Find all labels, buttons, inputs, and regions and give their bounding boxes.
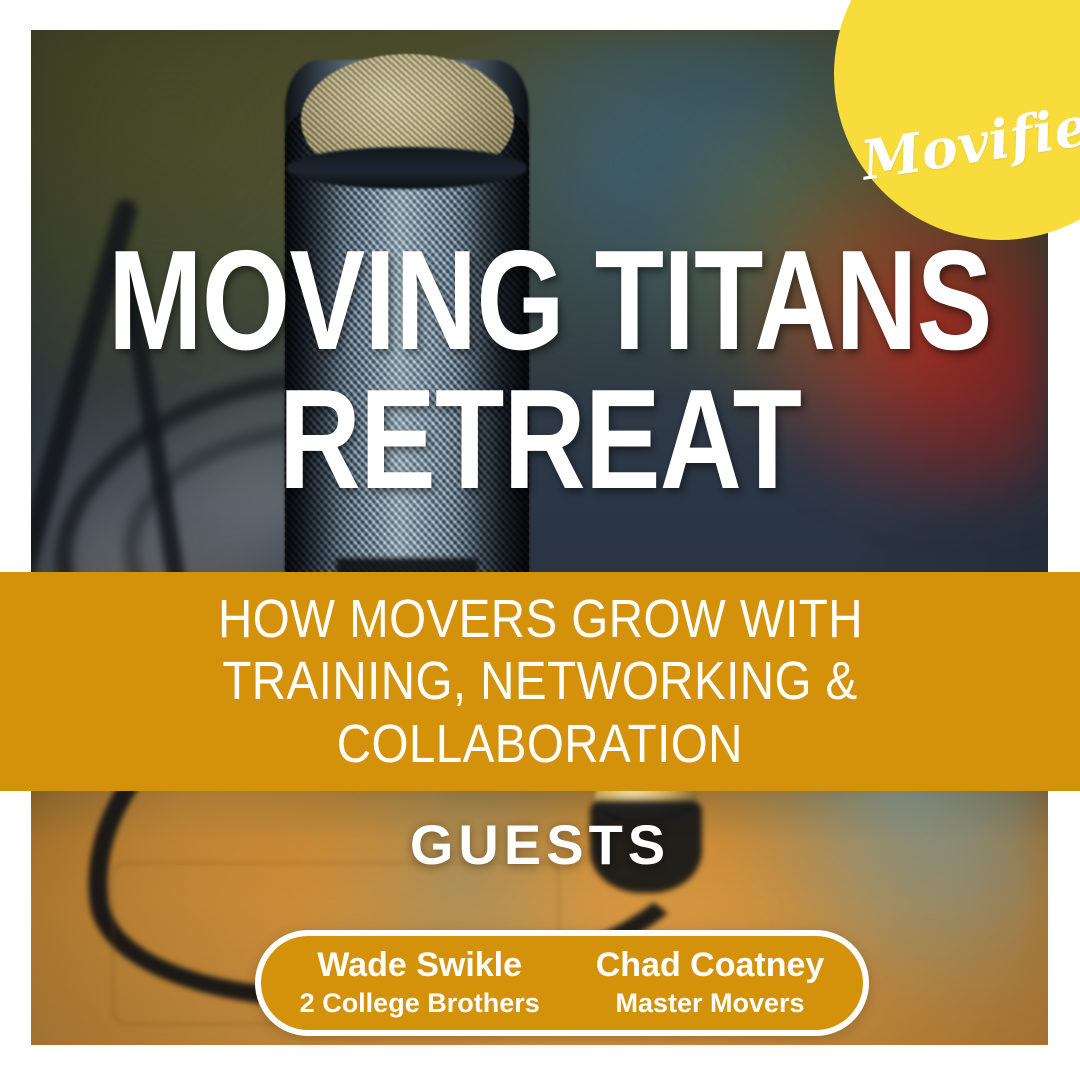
guest-name: Wade Swikle xyxy=(300,947,540,984)
subtitle-band: HOW MOVERS GROW WITH TRAINING, NETWORKIN… xyxy=(0,572,1080,791)
guests-heading: GUESTS xyxy=(0,812,1080,877)
brand-badge-circle: Movified xyxy=(834,0,1080,240)
subtitle-line-1: HOW MOVERS GROW WITH xyxy=(218,588,863,651)
podcast-promo-poster: Movified MOVING TITANS RETREAT HOW MOVER… xyxy=(0,0,1080,1080)
guest-organization: Master Movers xyxy=(596,987,825,1019)
subtitle-line-2: TRAINING, NETWORKING & xyxy=(222,650,857,713)
guest-entry-2: Chad Coatney Master Movers xyxy=(590,947,831,1019)
guest-organization: 2 College Brothers xyxy=(300,987,540,1019)
guest-entry-1: Wade Swikle 2 College Brothers xyxy=(294,947,546,1019)
guest-name: Chad Coatney xyxy=(596,947,825,984)
subtitle-line-3: COLLABORATION xyxy=(337,713,743,776)
guests-pill: Wade Swikle 2 College Brothers Chad Coat… xyxy=(255,930,869,1036)
